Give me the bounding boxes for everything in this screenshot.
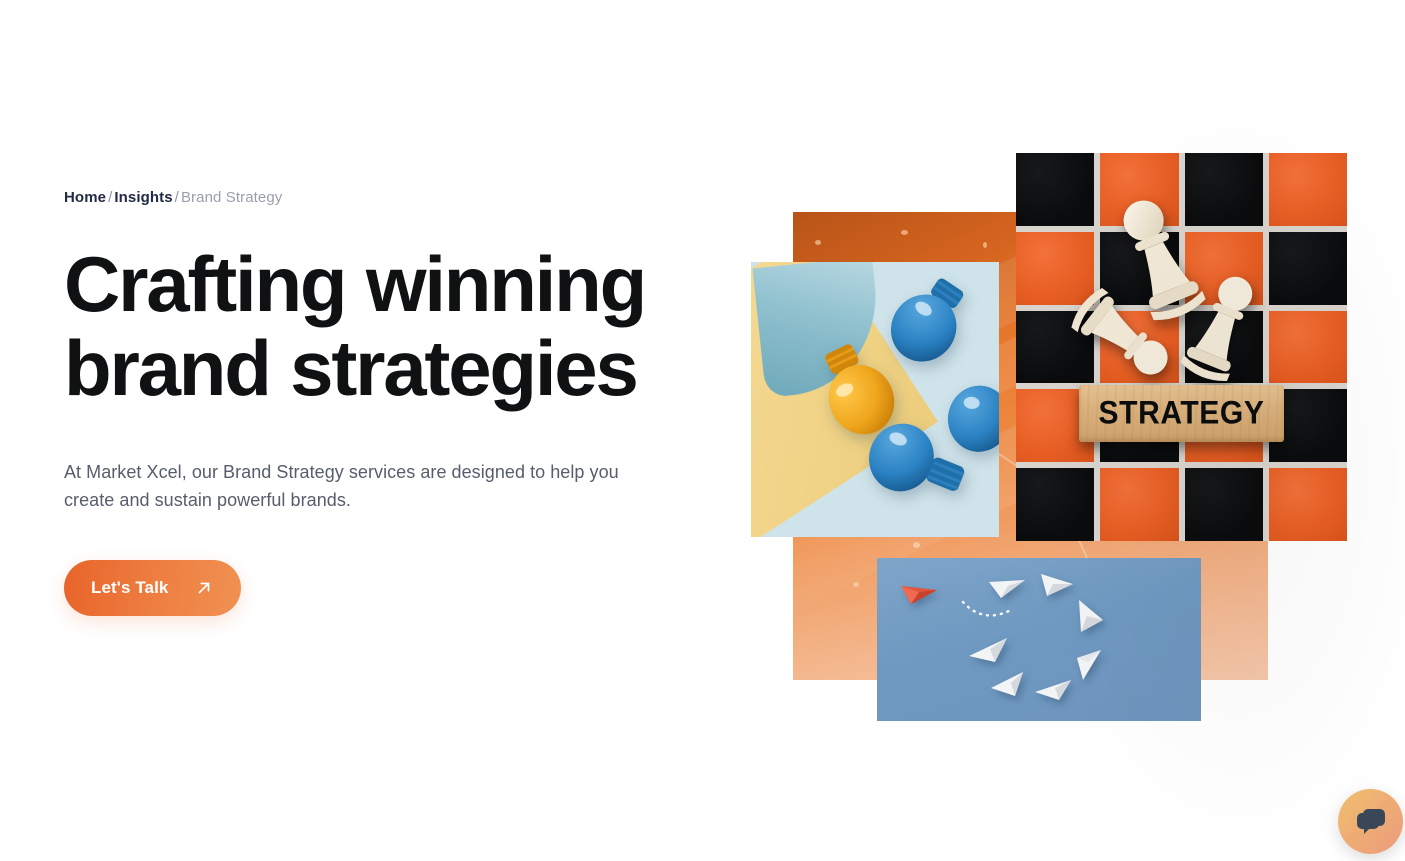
light-bulb-icon bbox=[859, 420, 985, 516]
chess-pawn-icon bbox=[1068, 281, 1178, 391]
page-root: Home/Insights/Brand Strategy Crafting wi… bbox=[0, 0, 1405, 861]
lets-talk-button-label: Let's Talk bbox=[91, 578, 168, 598]
paper-plane-icon bbox=[987, 574, 1027, 602]
breadcrumb-item-home[interactable]: Home bbox=[64, 189, 106, 206]
paper-plane-icon bbox=[899, 580, 939, 608]
paper-plane-icon bbox=[1071, 648, 1107, 684]
arrow-up-right-icon bbox=[194, 578, 214, 598]
strategy-sign-text: STRATEGY bbox=[1099, 395, 1265, 432]
paper-plane-icon bbox=[989, 670, 1027, 700]
lets-talk-button[interactable]: Let's Talk bbox=[64, 560, 241, 616]
hero-description: At Market Xcel, our Brand Strategy servi… bbox=[64, 458, 664, 514]
paper-plane-icon bbox=[1073, 598, 1109, 636]
strategy-wooden-sign: STRATEGY bbox=[1079, 385, 1284, 442]
chess-pawn-icon bbox=[1166, 269, 1276, 389]
breadcrumb: Home/Insights/Brand Strategy bbox=[64, 188, 684, 208]
breadcrumb-separator-2: / bbox=[173, 189, 181, 206]
paper-plane-icon bbox=[965, 634, 1009, 666]
paper-planes-photo bbox=[877, 558, 1201, 721]
light-bulbs-photo bbox=[751, 262, 999, 537]
hero-text-column: Home/Insights/Brand Strategy Crafting wi… bbox=[64, 188, 684, 616]
paper-plane-icon bbox=[1031, 676, 1073, 704]
chat-bubble-icon bbox=[1355, 807, 1387, 837]
breadcrumb-item-current: Brand Strategy bbox=[181, 189, 282, 206]
paper-plane-icon bbox=[1037, 570, 1077, 600]
chat-widget-button[interactable] bbox=[1338, 789, 1403, 854]
breadcrumb-item-insights[interactable]: Insights bbox=[114, 189, 172, 206]
page-title: Crafting winning brand strategies bbox=[64, 242, 674, 410]
chess-board-photo: STRATEGY bbox=[1016, 153, 1347, 541]
